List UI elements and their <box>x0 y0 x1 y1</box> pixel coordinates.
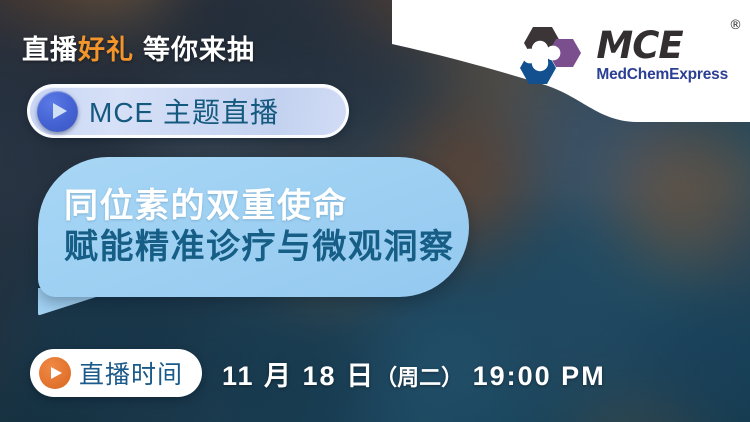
play-icon <box>39 357 71 389</box>
schedule-pill[interactable]: 直播时间 <box>30 349 202 397</box>
mce-hexagon-mark <box>509 26 587 86</box>
promo-headline: 直播好礼等你来抽 <box>22 28 255 67</box>
schedule-time: 19:00 PM <box>473 361 606 391</box>
play-icon <box>37 91 78 132</box>
topic-pill-label: MCE 主题直播 <box>89 91 279 131</box>
headline-accent: 好礼 <box>78 35 134 65</box>
schedule-date: 11 月 18 日 <box>222 361 375 391</box>
schedule-weekday: （周二） <box>375 365 463 390</box>
mce-wordmark-text: MCE <box>596 24 682 67</box>
livestream-promo-banner: MCE® MedChemExpress 直播好礼等你来抽 MCE 主题直播 同位… <box>0 0 750 422</box>
registered-mark-icon: ® <box>729 20 741 32</box>
mce-wordmark-block: MCE® MedChemExpress <box>596 28 732 84</box>
schedule-pill-label: 直播时间 <box>79 355 183 391</box>
bubble-title-line2: 赋能精准诊疗与微观洞察 <box>64 227 469 268</box>
speech-bubble: 同位素的双重使命 赋能精准诊疗与微观洞察 <box>38 157 469 297</box>
mce-logo: MCE® MedChemExpress <box>509 26 732 86</box>
headline-part2: 等你来抽 <box>143 35 255 65</box>
schedule-datetime: 11 月 18 日（周二） 19:00 PM <box>222 354 606 393</box>
headline-part1: 直播 <box>22 35 78 65</box>
mce-wordmark: MCE® <box>596 28 728 64</box>
topic-pill[interactable]: MCE 主题直播 <box>27 84 349 138</box>
bubble-title-line1: 同位素的双重使命 <box>64 186 469 227</box>
mce-subtitle: MedChemExpress <box>596 66 728 84</box>
